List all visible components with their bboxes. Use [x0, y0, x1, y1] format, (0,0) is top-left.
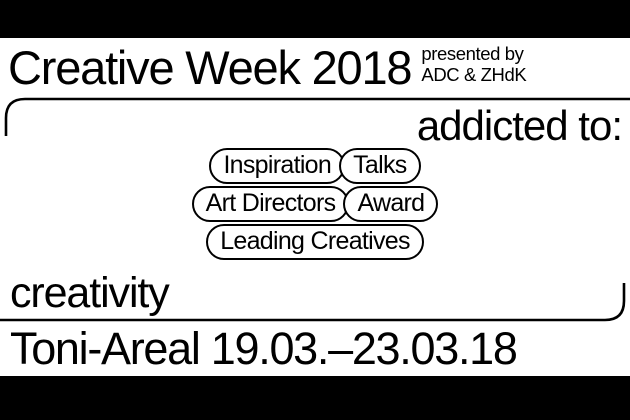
topic-pill-group: Inspiration Talks Art Directors Award Le…	[0, 148, 630, 262]
topic-pill-art-directors[interactable]: Art Directors	[192, 186, 350, 222]
topic-pill-leading-creatives[interactable]: Leading Creatives	[206, 224, 424, 260]
venue-and-dates: Toni-Areal 19.03.–23.03.18	[10, 323, 517, 375]
tagline: addicted to:	[417, 102, 622, 150]
topic-pill-award[interactable]: Award	[343, 186, 438, 222]
presented-by-label: presented by	[421, 43, 526, 64]
bottom-black-bar	[0, 376, 630, 420]
topic-pill-inspiration[interactable]: Inspiration	[209, 148, 345, 184]
topic-pill-row: Leading Creatives	[0, 224, 630, 260]
topic-pill-talks[interactable]: Talks	[339, 148, 420, 184]
poster-canvas: Creative Week 2018 presented by ADC & ZH…	[0, 0, 630, 420]
presented-by-organizations: ADC & ZHdK	[421, 64, 526, 85]
topic-pill-row: Inspiration Talks	[0, 148, 630, 184]
topic-pill-row: Art Directors Award	[0, 186, 630, 222]
headline-row: Creative Week 2018 presented by ADC & ZH…	[8, 41, 622, 97]
top-black-bar	[0, 0, 630, 38]
presented-by-block: presented by ADC & ZHdK	[421, 43, 526, 85]
page-title: Creative Week 2018	[8, 41, 411, 95]
footer-keyword: creativity	[10, 268, 169, 318]
